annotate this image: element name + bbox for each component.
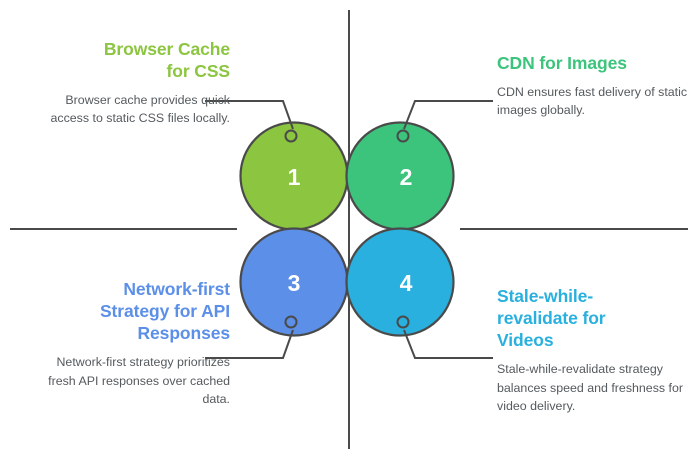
quadrant-bottom-left[interactable]: Network-first Strategy for API Responses… — [30, 278, 230, 408]
node-circle-2[interactable]: 2 — [347, 123, 454, 230]
four-quadrant-diagram: 1 2 3 4 — [0, 0, 698, 459]
node-number-1: 1 — [288, 164, 301, 190]
quadrant-title-1: Browser Cache for CSS — [30, 38, 230, 82]
node-circle-4[interactable]: 4 — [347, 229, 454, 336]
quadrant-title-2: CDN for Images — [497, 52, 697, 74]
quadrant-title-3-line-2: Strategy for API — [100, 301, 230, 321]
quadrant-top-right[interactable]: CDN for Images CDN ensures fast delivery… — [497, 52, 697, 120]
quadrant-description-4: Stale-while-revalidate strategy balances… — [497, 360, 697, 415]
quadrant-bottom-right[interactable]: Stale-while- revalidate for Videos Stale… — [497, 285, 697, 415]
node-number-4: 4 — [400, 270, 413, 296]
quadrant-title-4-line-2: revalidate for — [497, 308, 606, 328]
quadrant-title-3: Network-first Strategy for API Responses — [30, 278, 230, 344]
quadrant-title-3-line-1: Network-first — [123, 279, 230, 299]
quadrant-title-3-line-3: Responses — [138, 323, 230, 343]
quadrant-title-1-line-1: Browser Cache — [104, 39, 230, 59]
node-circle-3[interactable]: 3 — [241, 229, 348, 336]
quadrant-title-4-line-1: Stale-while- — [497, 286, 593, 306]
quadrant-title-4-line-3: Videos — [497, 330, 553, 350]
quadrant-description-2: CDN ensures fast delivery of static imag… — [497, 83, 697, 120]
node-number-2: 2 — [400, 164, 413, 190]
quadrant-title-2-line-1: CDN for Images — [497, 53, 627, 73]
node-number-3: 3 — [288, 270, 301, 296]
quadrant-title-1-line-2: for CSS — [167, 61, 230, 81]
quadrant-description-3: Network-first strategy prioritizes fresh… — [30, 353, 230, 408]
node-circle-1[interactable]: 1 — [241, 123, 348, 230]
quadrant-title-4: Stale-while- revalidate for Videos — [497, 285, 697, 351]
quadrant-top-left[interactable]: Browser Cache for CSS Browser cache prov… — [30, 38, 230, 128]
quadrant-description-1: Browser cache provides quick access to s… — [30, 91, 230, 128]
